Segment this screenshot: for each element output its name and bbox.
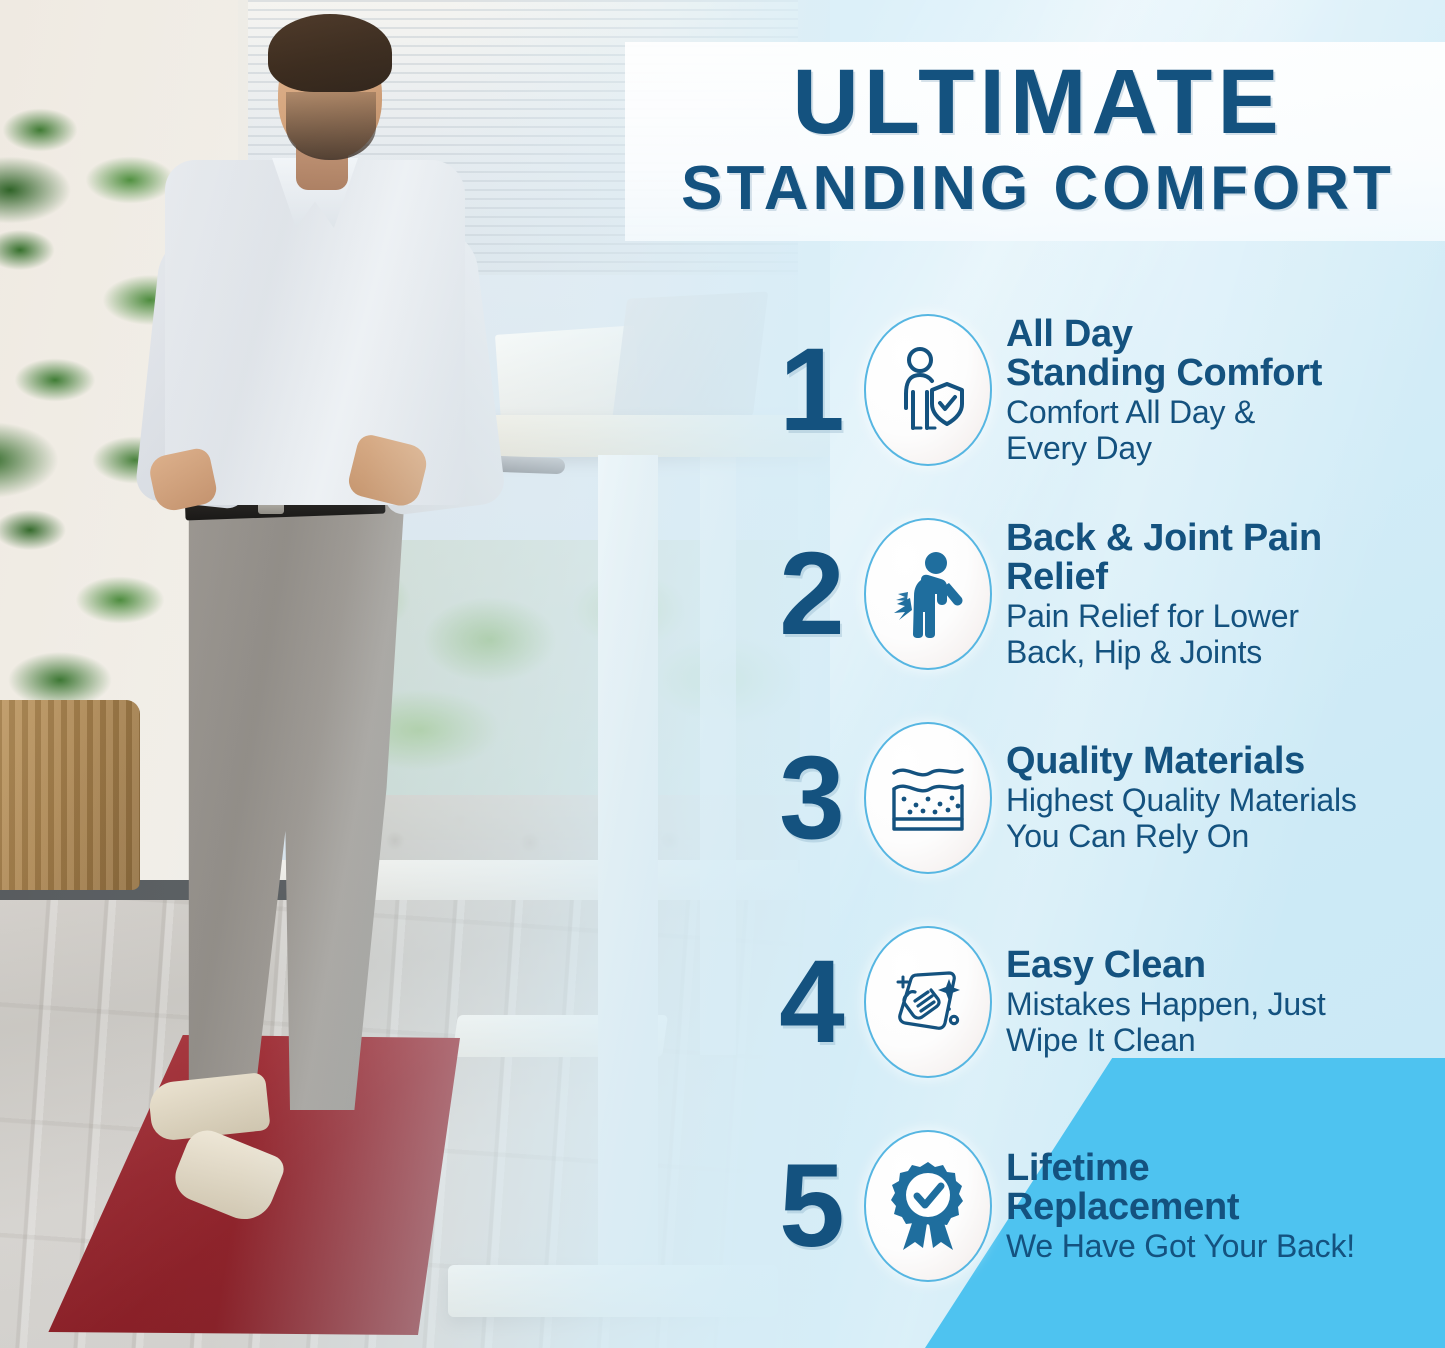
feature-sub-line2: Wipe It Clean (1006, 1024, 1445, 1058)
product-infographic: ULTIMATE STANDING COMFORT 1 All Day S (0, 0, 1445, 1348)
feature-number: 4 (760, 943, 864, 1061)
feature-sub-line1: We Have Got Your Back! (1006, 1230, 1445, 1264)
feature-item: 1 All Day Standing Comfort Comfort All D… (760, 292, 1445, 488)
feature-text: Easy Clean Mistakes Happen, Just Wipe It… (1006, 946, 1445, 1057)
headline-secondary: STANDING COMFORT (643, 154, 1433, 223)
feature-sub-line2: You Can Rely On (1006, 820, 1445, 854)
feature-title-line2: Relief (1006, 558, 1445, 598)
feature-item: 4 Easy Clean Mistakes Happen, J (760, 904, 1445, 1100)
feature-title-line1: Back & Joint Pain (1006, 519, 1445, 559)
headline-banner: ULTIMATE STANDING COMFORT (625, 42, 1445, 241)
feature-title-line1: All Day (1006, 315, 1445, 355)
foam-layers-icon (864, 722, 992, 874)
feature-item: 5 Lifetime Replacement We Have Got Your … (760, 1108, 1445, 1304)
feature-title-line2: Standing Comfort (1006, 354, 1445, 394)
feature-sub-line1: Pain Relief for Lower (1006, 600, 1445, 634)
headline-primary: ULTIMATE (643, 56, 1433, 148)
feature-title-line1: Lifetime (1006, 1149, 1445, 1189)
feature-sub-line1: Mistakes Happen, Just (1006, 988, 1445, 1022)
feature-sub-line2: Every Day (1006, 432, 1445, 466)
feature-title-line1: Easy Clean (1006, 946, 1445, 986)
feature-text: All Day Standing Comfort Comfort All Day… (1006, 315, 1445, 466)
award-ribbon-check-icon (864, 1130, 992, 1282)
feature-item: 2 Back & Joint Pain Relief Pain Relief f… (760, 496, 1445, 692)
feature-number: 2 (760, 535, 864, 653)
feature-number: 5 (760, 1147, 864, 1265)
feature-number: 1 (760, 331, 864, 449)
feature-sub-line1: Comfort All Day & (1006, 396, 1445, 430)
person-back-pain-icon (864, 518, 992, 670)
feature-list: 1 All Day Standing Comfort Comfort All D… (760, 292, 1445, 1304)
feature-text: Quality Materials Highest Quality Materi… (1006, 742, 1445, 853)
feature-item: 3 Quality Materials (760, 700, 1445, 896)
hand-wiping-cloth-icon (864, 926, 992, 1078)
feature-sub-line2: Back, Hip & Joints (1006, 636, 1445, 670)
person-shield-check-icon (864, 314, 992, 466)
feature-title-line1: Quality Materials (1006, 742, 1445, 782)
feature-text: Back & Joint Pain Relief Pain Relief for… (1006, 519, 1445, 670)
feature-title-line2: Replacement (1006, 1188, 1445, 1228)
feature-text: Lifetime Replacement We Have Got Your Ba… (1006, 1149, 1445, 1264)
feature-number: 3 (760, 739, 864, 857)
feature-sub-line1: Highest Quality Materials (1006, 784, 1445, 818)
